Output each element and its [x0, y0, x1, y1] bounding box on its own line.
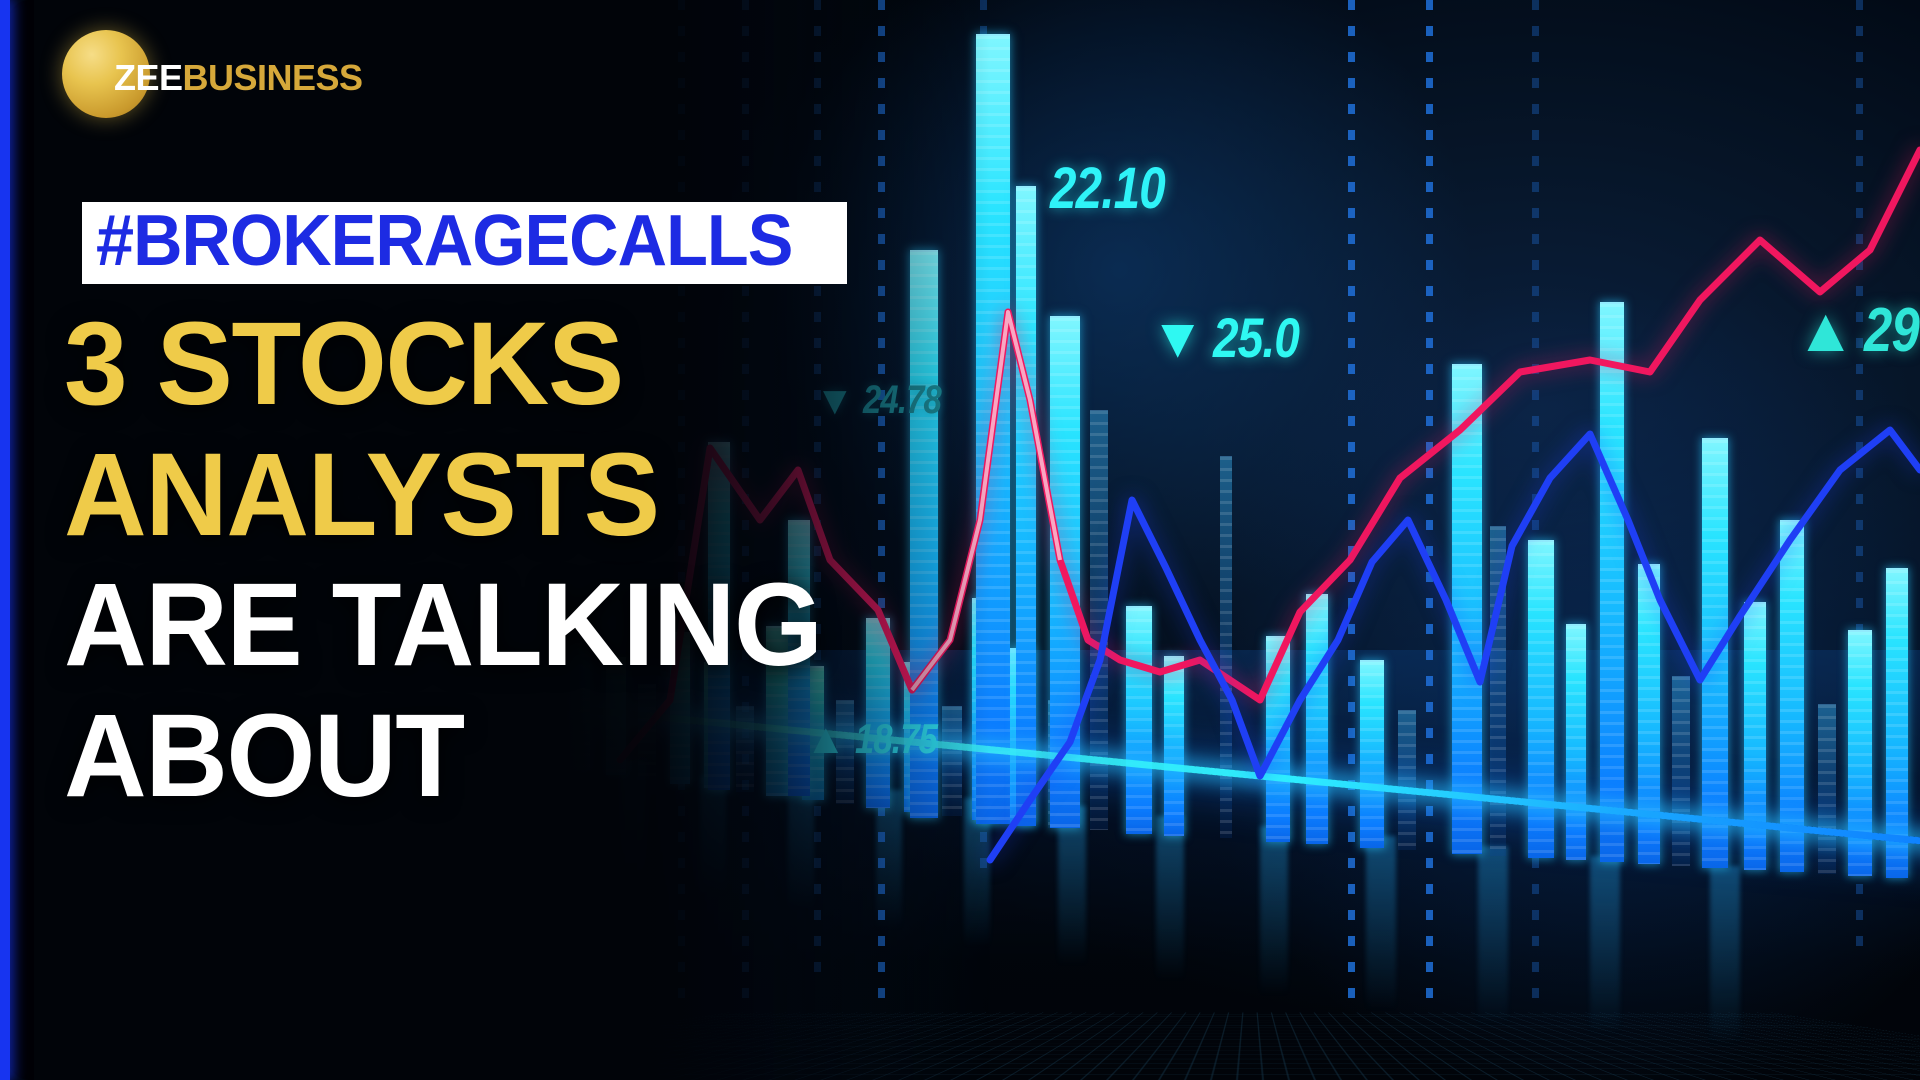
logo-wordmark: ZEEBUSINESS	[114, 57, 363, 99]
frame-rounded-edge	[8, 0, 34, 1080]
text-panel: ZEEBUSINESS #BROKERAGECALLS 3 STOCKS ANA…	[0, 0, 900, 1080]
headline-line-4: ABOUT	[64, 702, 879, 811]
value-label-22-10: 22.10	[1050, 155, 1190, 222]
hashtag-banner: #BROKERAGECALLS	[82, 202, 847, 284]
value-label-25-0: ▼ 25.0	[1150, 305, 1318, 370]
headline-line-3: ARE TALKING	[64, 571, 879, 680]
headline-line-1: 3 STOCKS	[64, 310, 879, 419]
headline-line-2: ANALYSTS	[64, 441, 879, 550]
triangle-down-icon: ▼	[1150, 310, 1204, 366]
value-label-text: 29	[1864, 295, 1919, 366]
value-label-text: 25.0	[1213, 305, 1299, 370]
logo-business-text: BUSINESS	[183, 57, 363, 98]
blue-trend-line	[990, 430, 1920, 860]
hashtag-text: #BROKERAGECALLS	[96, 208, 792, 274]
left-accent-border	[0, 0, 10, 1080]
headline-block: 3 STOCKS ANALYSTS ARE TALKING ABOUT	[64, 310, 904, 832]
value-label-29: ▲ 29	[1795, 295, 1920, 366]
logo-zee-text: ZEE	[114, 57, 183, 98]
zee-business-logo[interactable]: ZEEBUSINESS	[62, 30, 150, 118]
triangle-up-icon: ▲	[1795, 300, 1855, 362]
poster-canvas: 22.10 ▼ 24.78 ▼ 25.0 ▲ 18.75 ▲ 29 ZEEBUS…	[0, 0, 1920, 1080]
value-label-text: 22.10	[1050, 155, 1165, 222]
